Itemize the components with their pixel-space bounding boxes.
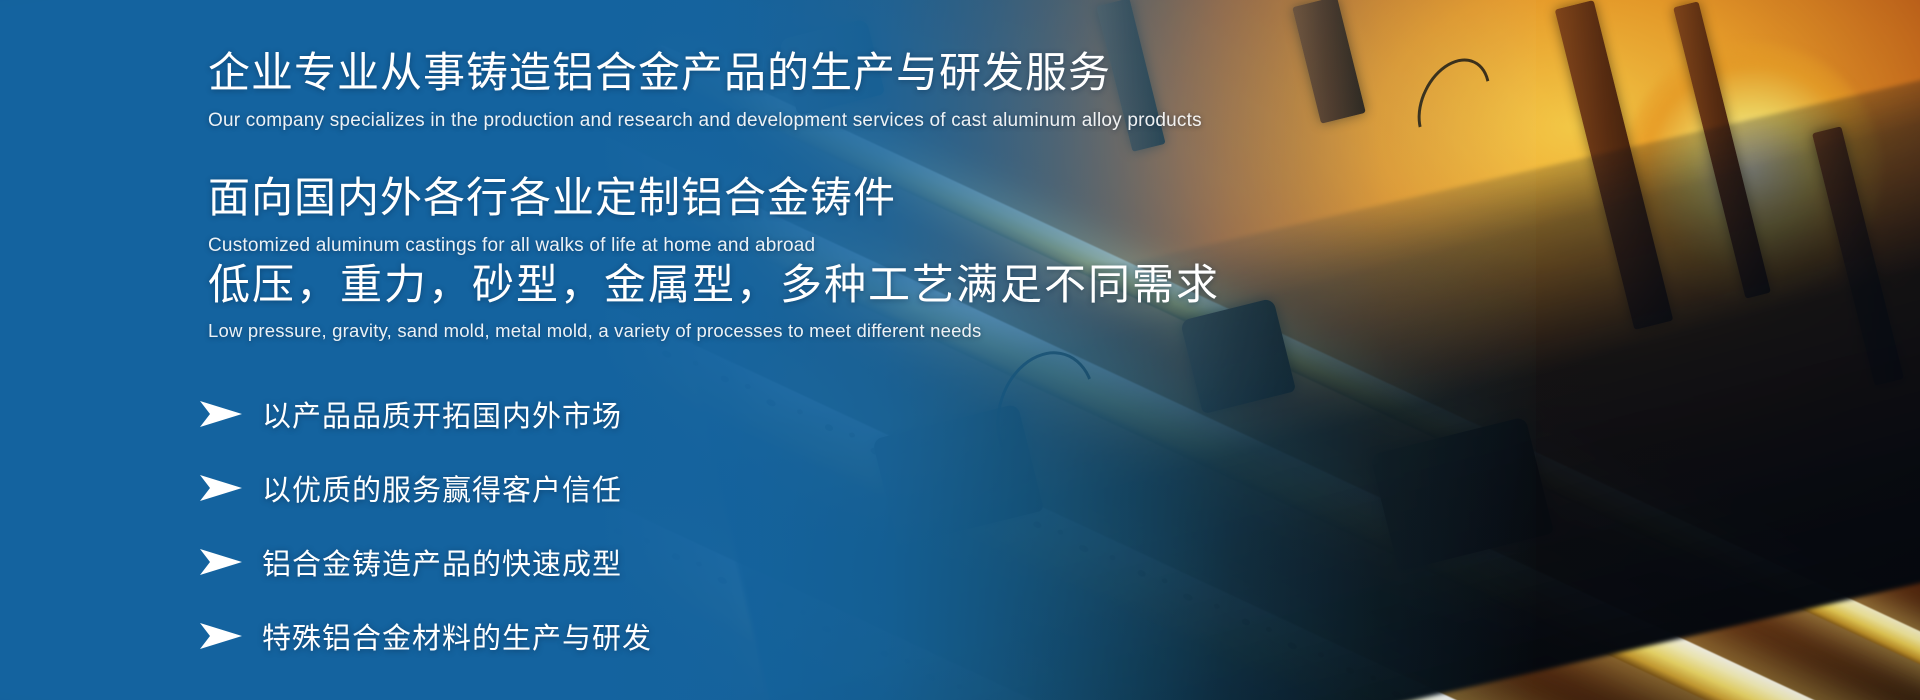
heading-1-en: Our company specializes in the productio… [208, 110, 1202, 133]
heading-2-cn: 面向国内外各行各业定制铝合金铸件 [208, 175, 896, 221]
list-item-label: 铝合金铸造产品的快速成型 [262, 541, 622, 583]
list-item-label: 特殊铝合金材料的生产与研发 [262, 615, 652, 657]
arrow-right-icon [198, 547, 244, 577]
hero-banner: 企业专业从事铸造铝合金产品的生产与研发服务 Our company specia… [0, 0, 1920, 700]
banner-content: 企业专业从事铸造铝合金产品的生产与研发服务 Our company specia… [208, 0, 1388, 700]
heading-block-1: 企业专业从事铸造铝合金产品的生产与研发服务 Our company specia… [208, 50, 1202, 133]
heading-2-en: Customized aluminum castings for all wal… [208, 235, 896, 258]
list-item[interactable]: 以产品品质开拓国内外市场 [198, 390, 652, 438]
list-item-label: 以产品品质开拓国内外市场 [262, 393, 622, 435]
list-item[interactable]: 铝合金铸造产品的快速成型 [198, 538, 652, 586]
feature-list: 以产品品质开拓国内外市场 以优质的服务赢得客户信任 铝合金铸造产品的快速成型 [198, 390, 652, 686]
arrow-right-icon [198, 621, 244, 651]
heading-block-2: 面向国内外各行各业定制铝合金铸件 Customized aluminum cas… [208, 175, 896, 258]
list-item[interactable]: 特殊铝合金材料的生产与研发 [198, 612, 652, 660]
list-item[interactable]: 以优质的服务赢得客户信任 [198, 464, 652, 512]
arrow-right-icon [198, 473, 244, 503]
list-item-label: 以优质的服务赢得客户信任 [262, 467, 622, 509]
heading-3-en: Low pressure, gravity, sand mold, metal … [208, 320, 1220, 342]
arrow-right-icon [198, 399, 244, 429]
heading-block-3: 低压，重力，砂型，金属型，多种工艺满足不同需求 Low pressure, gr… [208, 262, 1220, 342]
heading-1-cn: 企业专业从事铸造铝合金产品的生产与研发服务 [208, 50, 1202, 96]
heading-3-cn: 低压，重力，砂型，金属型，多种工艺满足不同需求 [208, 262, 1220, 308]
